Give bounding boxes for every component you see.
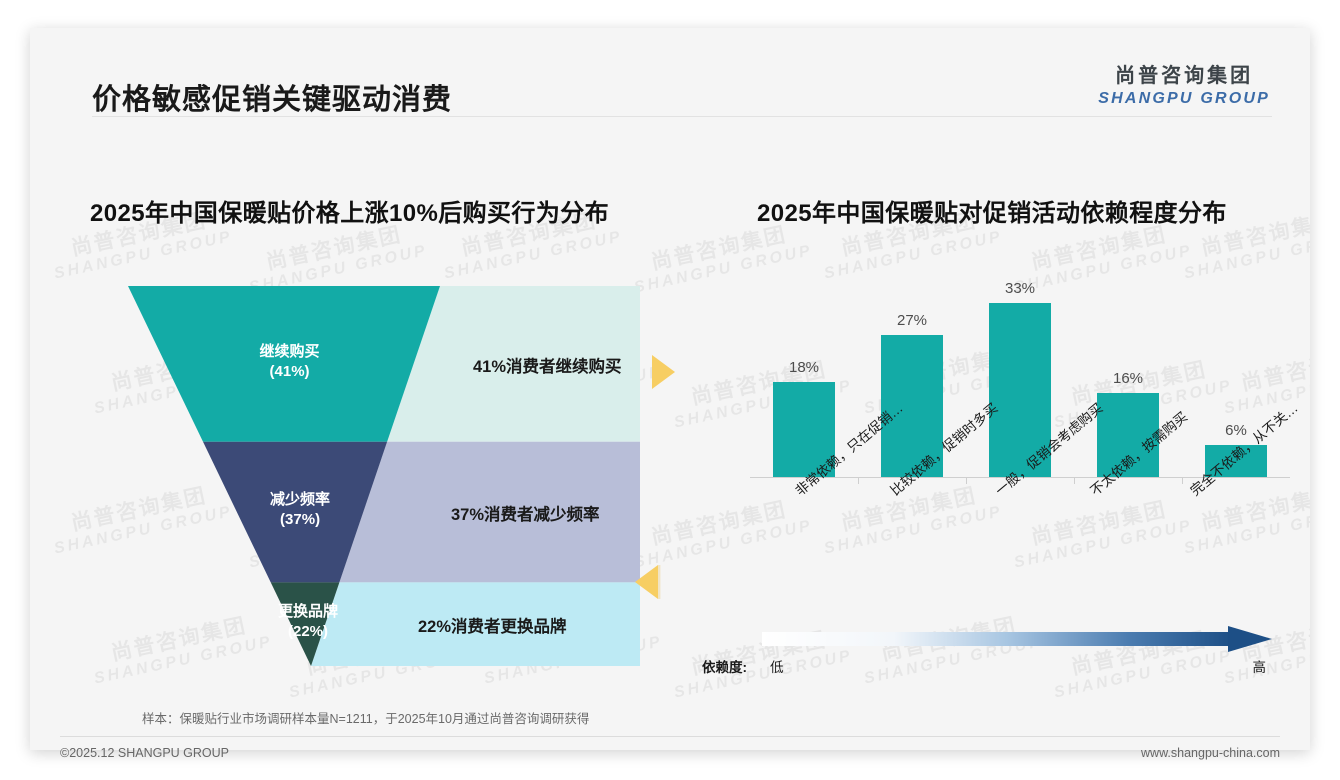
right-chart-title: 2025年中国保暖贴对促销活动依赖程度分布	[757, 193, 1227, 228]
triangle-left-icon	[632, 563, 662, 606]
axis-tick	[1074, 478, 1075, 484]
funnel-stage-value: (22%)	[288, 623, 328, 640]
triangle-right-glyph	[648, 353, 678, 391]
legend-high-label: 高	[1253, 656, 1267, 676]
logo-english-text: SHANGPU GROUP	[1098, 89, 1270, 108]
funnel-stage-label-1: 继续购买(41%)	[230, 342, 350, 383]
footer-divider	[60, 736, 1280, 737]
footer-website[interactable]: www.shangpu-china.com	[1141, 746, 1280, 760]
dependency-gradient-legend: 依赖度: 低 高	[702, 626, 1282, 680]
header-divider	[92, 116, 1272, 117]
bar-value-label: 18%	[789, 359, 819, 376]
watermark-text: 尚普咨询集团SHANGPU GROUP	[818, 480, 1005, 559]
funnel-stage-note-2: 37%消费者减少频率	[451, 501, 600, 525]
watermark-text: 尚普咨询集团SHANGPU GROUP	[628, 494, 815, 573]
slide-header: 价格敏感促销关键驱动消费 尚普咨询集团 SHANGPU GROUP	[30, 28, 1310, 120]
logo-chinese-text: 尚普咨询集团	[1098, 64, 1270, 88]
legend-title: 依赖度:	[702, 656, 747, 676]
funnel-stage-label-2: 减少频率(37%)	[240, 490, 360, 531]
axis-tick	[858, 478, 859, 484]
axis-tick	[966, 478, 967, 484]
funnel-stage-note-3: 22%消费者更换品牌	[418, 613, 567, 637]
triangle-right-icon	[648, 353, 678, 396]
bar-value-label: 27%	[897, 312, 927, 329]
sample-footnote: 样本：保暖贴行业市场调研样本量N=1211，于2025年10月通过尚普咨询调研获…	[142, 708, 589, 727]
funnel-shape	[128, 286, 640, 666]
left-chart-title: 2025年中国保暖贴价格上涨10%后购买行为分布	[90, 193, 609, 228]
funnel-stage-note-1: 41%消费者继续购买	[473, 353, 622, 377]
company-logo: 尚普咨询集团 SHANGPU GROUP	[1098, 64, 1270, 108]
funnel-stage-value: (37%)	[280, 511, 320, 528]
page-title: 价格敏感促销关键驱动消费	[92, 76, 452, 118]
bar-value-label: 33%	[1005, 280, 1035, 297]
funnel-stage-name: 继续购买	[260, 343, 320, 360]
funnel-chart: 继续购买(41%)41%消费者继续购买减少频率(37%)37%消费者减少频率更换…	[128, 286, 640, 666]
triangle-left-glyph	[632, 563, 662, 601]
legend-low-label: 低	[770, 656, 784, 676]
funnel-stage-value: (41%)	[270, 363, 310, 380]
funnel-stage-name: 减少频率	[270, 491, 330, 508]
funnel-stage-name: 更换品牌	[278, 603, 338, 620]
bar-value-label: 16%	[1113, 370, 1143, 387]
footer-copyright: ©2025.12 SHANGPU GROUP	[60, 746, 229, 760]
funnel-stage-label-3: 更换品牌(22%)	[248, 602, 368, 643]
watermark-text: 尚普咨询集团SHANGPU GROUP	[1008, 494, 1195, 573]
axis-tick	[1182, 478, 1183, 484]
slide-canvas: 尚普咨询集团SHANGPU GROUP尚普咨询集团SHANGPU GROUP尚普…	[30, 28, 1310, 750]
gradient-arrow-icon	[702, 626, 1282, 652]
